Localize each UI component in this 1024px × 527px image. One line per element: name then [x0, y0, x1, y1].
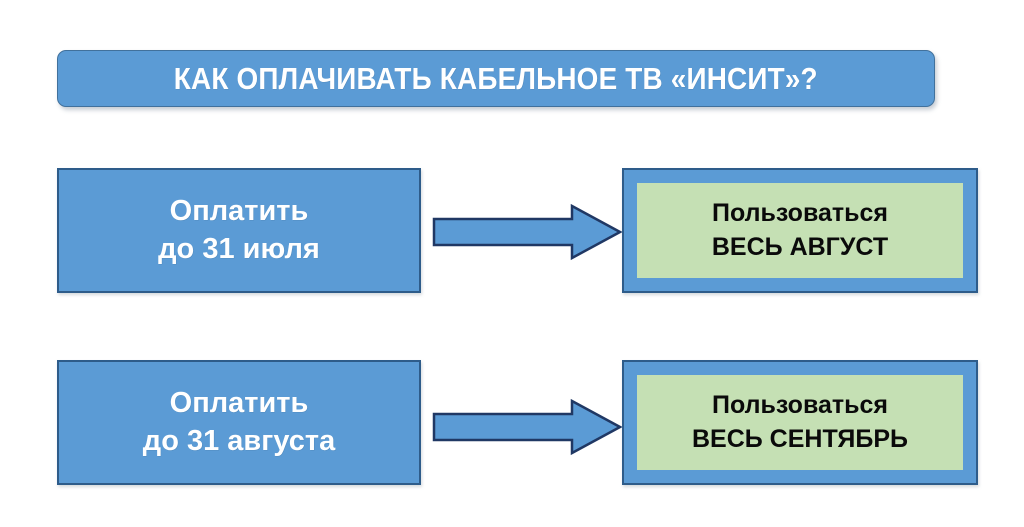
- use-box-row-2-line-1: Пользоваться: [712, 389, 888, 422]
- header-banner: КАК ОПЛАЧИВАТЬ КАБЕЛЬНОЕ ТВ «ИНСИТ»?: [57, 50, 935, 107]
- use-box-row-2-inner: Пользоваться ВЕСЬ СЕНТЯБРЬ: [637, 375, 963, 470]
- use-box-row-1-line-2: ВЕСЬ АВГУСТ: [712, 231, 888, 264]
- arrow-right-icon-row-1: [432, 203, 622, 261]
- use-box-row-1: Пользоваться ВЕСЬ АВГУСТ: [622, 168, 978, 293]
- use-box-row-1-line-1: Пользоваться: [712, 197, 888, 230]
- use-box-row-1-inner: Пользоваться ВЕСЬ АВГУСТ: [637, 183, 963, 278]
- pay-box-row-1-line-1: Оплатить: [170, 193, 309, 230]
- pay-box-row-2: Оплатить до 31 августа: [57, 360, 421, 485]
- use-box-row-2-line-2: ВЕСЬ СЕНТЯБРЬ: [692, 423, 908, 456]
- use-box-row-2: Пользоваться ВЕСЬ СЕНТЯБРЬ: [622, 360, 978, 485]
- pay-box-row-2-line-2: до 31 августа: [143, 423, 335, 460]
- pay-box-row-1-line-2: до 31 июля: [158, 231, 320, 268]
- arrow-right-icon-row-2: [432, 398, 622, 456]
- pay-box-row-1: Оплатить до 31 июля: [57, 168, 421, 293]
- pay-box-row-2-line-1: Оплатить: [170, 385, 309, 422]
- page-title: КАК ОПЛАЧИВАТЬ КАБЕЛЬНОЕ ТВ «ИНСИТ»?: [174, 61, 818, 97]
- slide-canvas: КАК ОПЛАЧИВАТЬ КАБЕЛЬНОЕ ТВ «ИНСИТ»? Опл…: [0, 0, 1024, 527]
